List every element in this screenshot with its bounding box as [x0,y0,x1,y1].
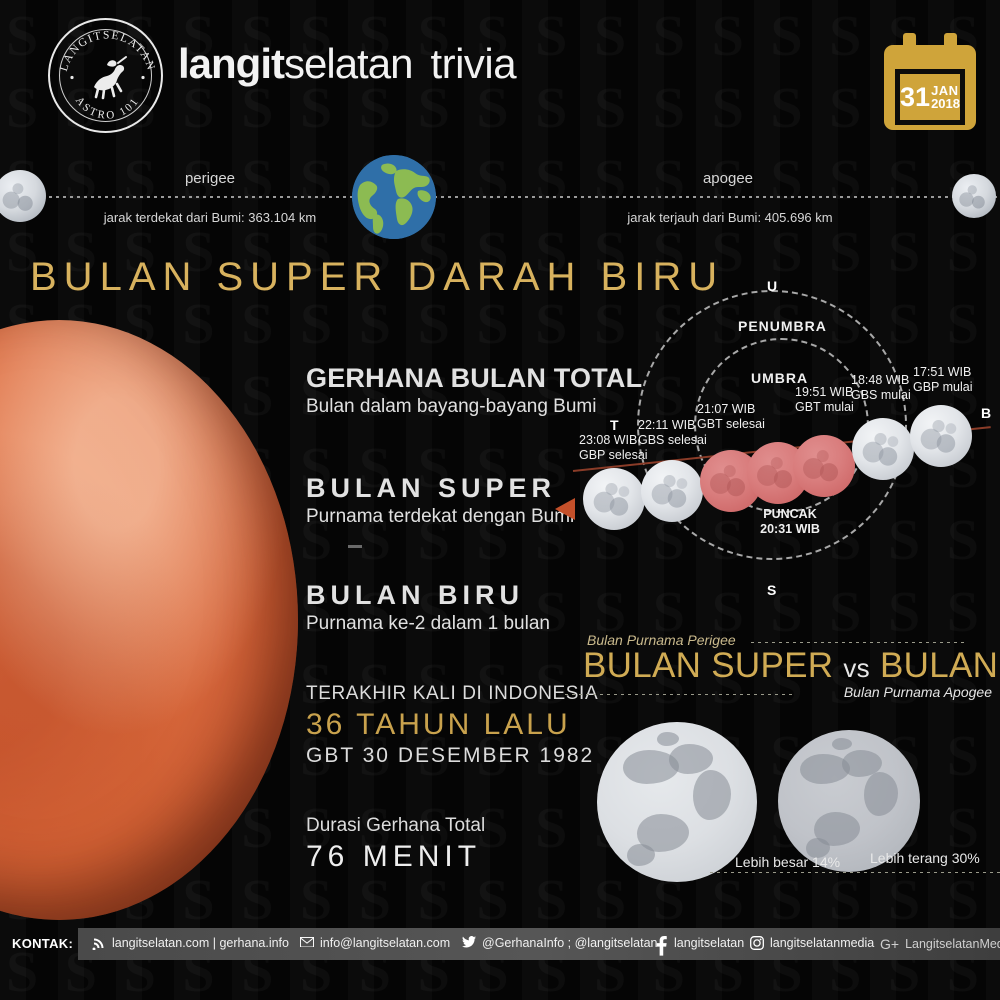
phase-label-6: 17:51 WIB GBP mulai [913,365,973,395]
phase-event: GBP selesai [579,448,648,463]
peak-title: PUNCAK [755,507,825,522]
caption-lebih-terang: Lebih terang 30% [870,850,980,866]
apogee-title: apogee [648,170,808,187]
fact-subtitle: Purnama ke-2 dalam 1 bulan [306,613,550,635]
fact-heading: BULAN BIRU [306,580,550,611]
calendar-body: 31 JAN 2018 [884,45,976,130]
footer-item-text: @GerhanaInfo ; @langitselatan [482,936,657,950]
mare-shape [627,844,655,866]
phase-event: GBT mulai [795,400,854,415]
calendar-day: 31 [900,84,930,110]
last-eclipse-label: TERAKHIR KALI DI INDONESIA [306,683,598,705]
facebook-icon [654,936,668,950]
footer-item-googleplus[interactable]: G+ LangitselatanMedia [880,936,1000,952]
mare-shape [864,772,898,816]
apogee-subtitle: jarak terjauh dari Bumi: 405.696 km [570,210,890,225]
brand-trivia: trivia [430,40,516,87]
footer-item-text: langitselatan.com | gerhana.info [112,936,289,950]
rss-icon [92,936,106,950]
instagram-icon [750,936,764,950]
last-eclipse-block: TERAKHIR KALI DI INDONESIA 36 TAHUN LALU… [306,683,598,768]
phase-event: GBP mulai [913,380,973,395]
calendar-year: 2018 [931,97,960,110]
fact-subtitle: Purnama terdekat dengan Bumi [306,506,574,528]
penumbra-label: PENUMBRA [738,318,827,334]
divider-dash [348,545,362,548]
footer-item-twitter[interactable]: @GerhanaInfo ; @langitselatan [462,936,657,950]
compare-title-super: BULAN SUPER [583,646,833,685]
brand-langit: langit [178,40,284,87]
moon-phase-4 [793,435,855,497]
phase-event: GBT selesai [697,417,765,432]
langitselatan-seal-logo: LANGITSELATAN ASTRO 101 [48,18,163,133]
infographic-page: SSSSSSSSSSSSSSSSSSSSSSSSSSSSSSSSSSSSSSSS… [0,0,1000,1000]
footer-item-text: info@langitselatan.com [320,936,450,950]
compass-south: S [767,582,776,598]
compass-north: U [767,278,777,294]
perigee-subtitle: jarak terdekat dari Bumi: 363.104 km [60,210,360,225]
calendar-month-year: JAN 2018 [931,84,960,110]
compare-bottom-label: Bulan Purnama Apogee [844,684,992,700]
footer-item-text: langitselatanmedia [770,936,874,950]
envelope-icon [300,936,314,950]
supermoon-disc [597,722,757,882]
compass-west: T [610,417,619,433]
phase-event: GBS selesai [638,433,707,448]
fact-bulan-super: BULAN SUPER Purnama terdekat dengan Bumi [306,473,574,528]
phase-label-3: 21:07 WIB GBT selesai [697,402,765,432]
compass-east: B [981,405,991,421]
duration-label: Durasi Gerhana Total [306,815,485,837]
moon-phase-5 [852,418,914,480]
footer-item-instagram[interactable]: langitselatanmedia [750,936,874,950]
peak-label: PUNCAK 20:31 WIB [755,507,825,537]
peak-time: 20:31 WIB [755,522,825,537]
brand-title: langitselatantrivia [178,38,516,90]
compare-title-vs: vs [843,653,870,683]
phase-time: 17:51 WIB [913,365,973,380]
phase-label-4: 19:51 WIB GBT mulai [795,385,854,415]
googleplus-icon: G+ [880,936,899,952]
perigee-title: perigee [130,170,290,187]
compare-title: BULAN SUPER vs BULAN MINI [583,646,1000,686]
footer-kontak-label: KONTAK: [12,936,73,951]
compare-title-mini: BULAN MINI [880,646,1000,685]
footer-item-facebook[interactable]: langitselatan [654,936,744,950]
compare-dotted-line-captions [710,872,1000,873]
moon-phase-1 [583,468,645,530]
mare-shape [693,770,731,820]
eclipse-path-diagram: U S T B PENUMBRA UMBRA 23:08 WIB GBP sel… [555,270,1000,620]
calendar-icon: 31 JAN 2018 [884,33,976,130]
phase-event: GBS mulai [851,388,911,403]
mare-shape [832,738,852,750]
distance-band: perigee jarak terdekat dari Bumi: 363.10… [0,150,1000,250]
phase-time: 18:48 WIB [851,373,911,388]
direction-arrow-icon [555,498,575,520]
moon-icon-apogee [952,174,996,218]
header: LANGITSELATAN ASTRO 101 langitselatantri… [0,0,1000,150]
mare-shape [657,732,679,746]
umbra-label: UMBRA [751,370,808,386]
compare-dotted-line-bottom [565,694,795,695]
moon-phase-6 [910,405,972,467]
footer-contact-bar: KONTAK: langitselatan.com | gerhana.info… [0,928,1000,960]
supermoon-vs-minimoon-section: Bulan Purnama Perigee BULAN SUPER vs BUL… [565,632,1000,904]
phase-time: 21:07 WIB [697,402,765,417]
blood-moon-image [0,320,298,920]
twitter-icon [462,936,476,950]
fact-bulan-biru: BULAN BIRU Purnama ke-2 dalam 1 bulan [306,580,550,635]
footer-item-website[interactable]: langitselatan.com | gerhana.info [92,936,289,950]
caption-lebih-besar: Lebih besar 14% [735,854,840,870]
calendar-date-pad: 31 JAN 2018 [900,74,960,120]
last-eclipse-value: 36 TAHUN LALU [306,708,598,742]
duration-block: Durasi Gerhana Total 76 MENIT [306,815,485,874]
footer-item-text: LangitselatanMedia [905,937,1000,951]
earth-icon [352,155,436,239]
compare-dotted-line-top [751,642,967,643]
calendar-screen: 31 JAN 2018 [895,69,965,125]
footer-item-email[interactable]: info@langitselatan.com [300,936,450,950]
horse-rider-icon [84,53,132,101]
last-eclipse-detail: GBT 30 DESEMBER 1982 [306,744,598,768]
duration-value: 76 MENIT [306,840,485,874]
brand-selatan: selatan [284,40,412,87]
fact-heading: BULAN SUPER [306,473,574,504]
footer-item-text: langitselatan [674,936,744,950]
phase-time: 19:51 WIB [795,385,854,400]
moon-icon-perigee [0,170,46,222]
distance-dotted-line [0,196,1000,198]
phase-label-5: 18:48 WIB GBS mulai [851,373,911,403]
moon-phase-2 [641,460,703,522]
